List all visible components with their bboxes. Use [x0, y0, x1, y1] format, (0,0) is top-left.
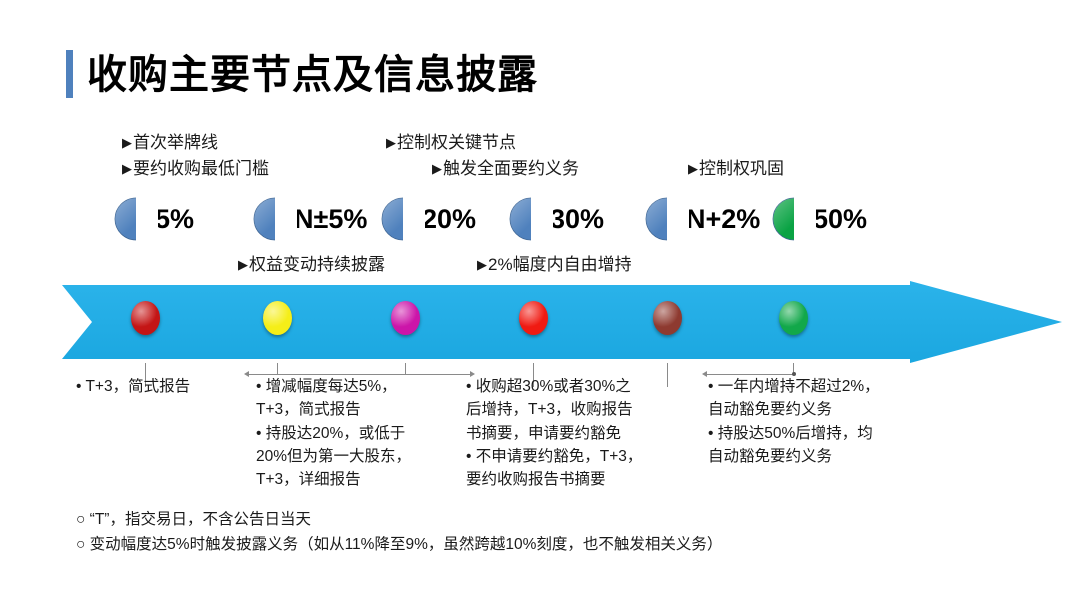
callout-free-increase-2pct: ▶2%幅度内自由增持 — [477, 254, 632, 277]
callout-label: 2%幅度内自由增持 — [488, 255, 632, 274]
timeline-marker-6 — [779, 301, 808, 335]
callout-label: 触发全面要约义务 — [443, 159, 579, 178]
callout-label: 首次举牌线 — [133, 133, 218, 152]
milestone-20: 20% — [381, 197, 476, 241]
milestone-50: 50% — [772, 197, 867, 241]
milestone-label: N+2% — [686, 204, 760, 235]
triangle-bullet-icon: ▶ — [688, 160, 698, 178]
timeline-marker-3 — [391, 301, 420, 335]
footnote-line: “T”，指交易日，不含公告日当天 — [76, 508, 776, 533]
detail-block-1: T+3，简式报告 — [76, 375, 256, 398]
detail-block-2: 增减幅度每达5%，T+3，简式报告持股达20%，或低于20%但为第一大股东，T+… — [256, 375, 466, 491]
detail-line: 持股达50%后增持，均 — [708, 422, 938, 445]
detail-line: 收购超30%或者30%之 — [466, 375, 706, 398]
detail-line: T+3，简式报告 — [256, 398, 466, 421]
detail-line: 持股达20%，或低于 — [256, 422, 466, 445]
triangle-bullet-icon: ▶ — [432, 160, 442, 178]
milestone-label: 5% — [155, 204, 194, 235]
pie-chart-icon — [381, 197, 425, 241]
footnotes: “T”，指交易日，不含公告日当天变动幅度达5%时触发披露义务（如从11%降至9%… — [76, 508, 776, 558]
callout-label: 要约收购最低门槛 — [133, 159, 269, 178]
milestone-label: N±5% — [294, 204, 367, 235]
detail-block-3: 收购超30%或者30%之后增持，T+3，收购报告书摘要，申请要约豁免不申请要约豁… — [466, 375, 706, 491]
title-accent-bar — [66, 50, 73, 98]
callout-first-disclosure-line: ▶首次举牌线 — [122, 132, 218, 155]
milestone-label: 30% — [550, 204, 604, 235]
triangle-bullet-icon: ▶ — [477, 256, 487, 274]
detail-line: 书摘要，申请要约豁免 — [466, 422, 706, 445]
detail-line: T+3，详细报告 — [256, 468, 466, 491]
detail-line: 一年内增持不超过2%， — [708, 375, 938, 398]
callout-trigger-full-offer: ▶触发全面要约义务 — [432, 158, 579, 181]
timeline-marker-5 — [653, 301, 682, 335]
connector-line — [405, 363, 406, 374]
detail-line: 20%但为第一大股东， — [256, 445, 466, 468]
footnote-line: 变动幅度达5%时触发披露义务（如从11%降至9%，虽然跨越10%刻度，也不触发相… — [76, 533, 776, 558]
slide-canvas: 收购主要节点及信息披露 ▶首次举牌线 ▶要约收购最低门槛 ▶控制权关键节点 ▶触… — [0, 0, 1080, 608]
pie-chart-icon — [772, 197, 816, 241]
triangle-bullet-icon: ▶ — [386, 134, 396, 152]
callout-tender-offer-threshold: ▶要约收购最低门槛 — [122, 158, 269, 181]
milestone-5: 5% — [114, 197, 194, 241]
timeline-marker-4 — [519, 301, 548, 335]
detail-line: 不申请要约豁免，T+3， — [466, 445, 706, 468]
pie-chart-icon — [645, 197, 689, 241]
timeline-arrow — [62, 281, 1062, 363]
milestone-n-plusminus-5: N±5% — [253, 197, 367, 241]
milestone-label: 50% — [813, 204, 867, 235]
triangle-bullet-icon: ▶ — [122, 160, 132, 178]
detail-line: 后增持，T+3，收购报告 — [466, 398, 706, 421]
detail-line: 增减幅度每达5%， — [256, 375, 466, 398]
pie-chart-icon — [509, 197, 553, 241]
detail-line: 要约收购报告书摘要 — [466, 468, 706, 491]
pie-chart-icon — [114, 197, 158, 241]
callout-label: 控制权巩固 — [699, 159, 784, 178]
milestone-label: 20% — [422, 204, 476, 235]
triangle-bullet-icon: ▶ — [122, 134, 132, 152]
callout-control-key-node: ▶控制权关键节点 — [386, 132, 516, 155]
triangle-bullet-icon: ▶ — [238, 256, 248, 274]
slide-title: 收购主要节点及信息披露 — [66, 50, 538, 98]
detail-block-4: 一年内增持不超过2%，自动豁免要约义务持股达50%后增持，均自动豁免要约义务 — [708, 375, 938, 468]
callout-label: 控制权关键节点 — [397, 133, 516, 152]
callout-continuous-disclosure: ▶权益变动持续披露 — [238, 254, 385, 277]
detail-line: 自动豁免要约义务 — [708, 398, 938, 421]
timeline-arrow-shape — [62, 281, 1062, 363]
detail-line: 自动豁免要约义务 — [708, 445, 938, 468]
callout-label: 权益变动持续披露 — [249, 255, 385, 274]
page-title: 收购主要节点及信息披露 — [87, 50, 538, 98]
detail-line: T+3，简式报告 — [76, 375, 256, 398]
milestone-30: 30% — [509, 197, 604, 241]
timeline-marker-2 — [263, 301, 292, 335]
pie-chart-icon — [253, 197, 297, 241]
milestone-n-plus-2: N+2% — [645, 197, 760, 241]
connector-line — [277, 363, 278, 374]
timeline-marker-1 — [131, 301, 160, 335]
callout-control-consolidation: ▶控制权巩固 — [688, 158, 784, 181]
